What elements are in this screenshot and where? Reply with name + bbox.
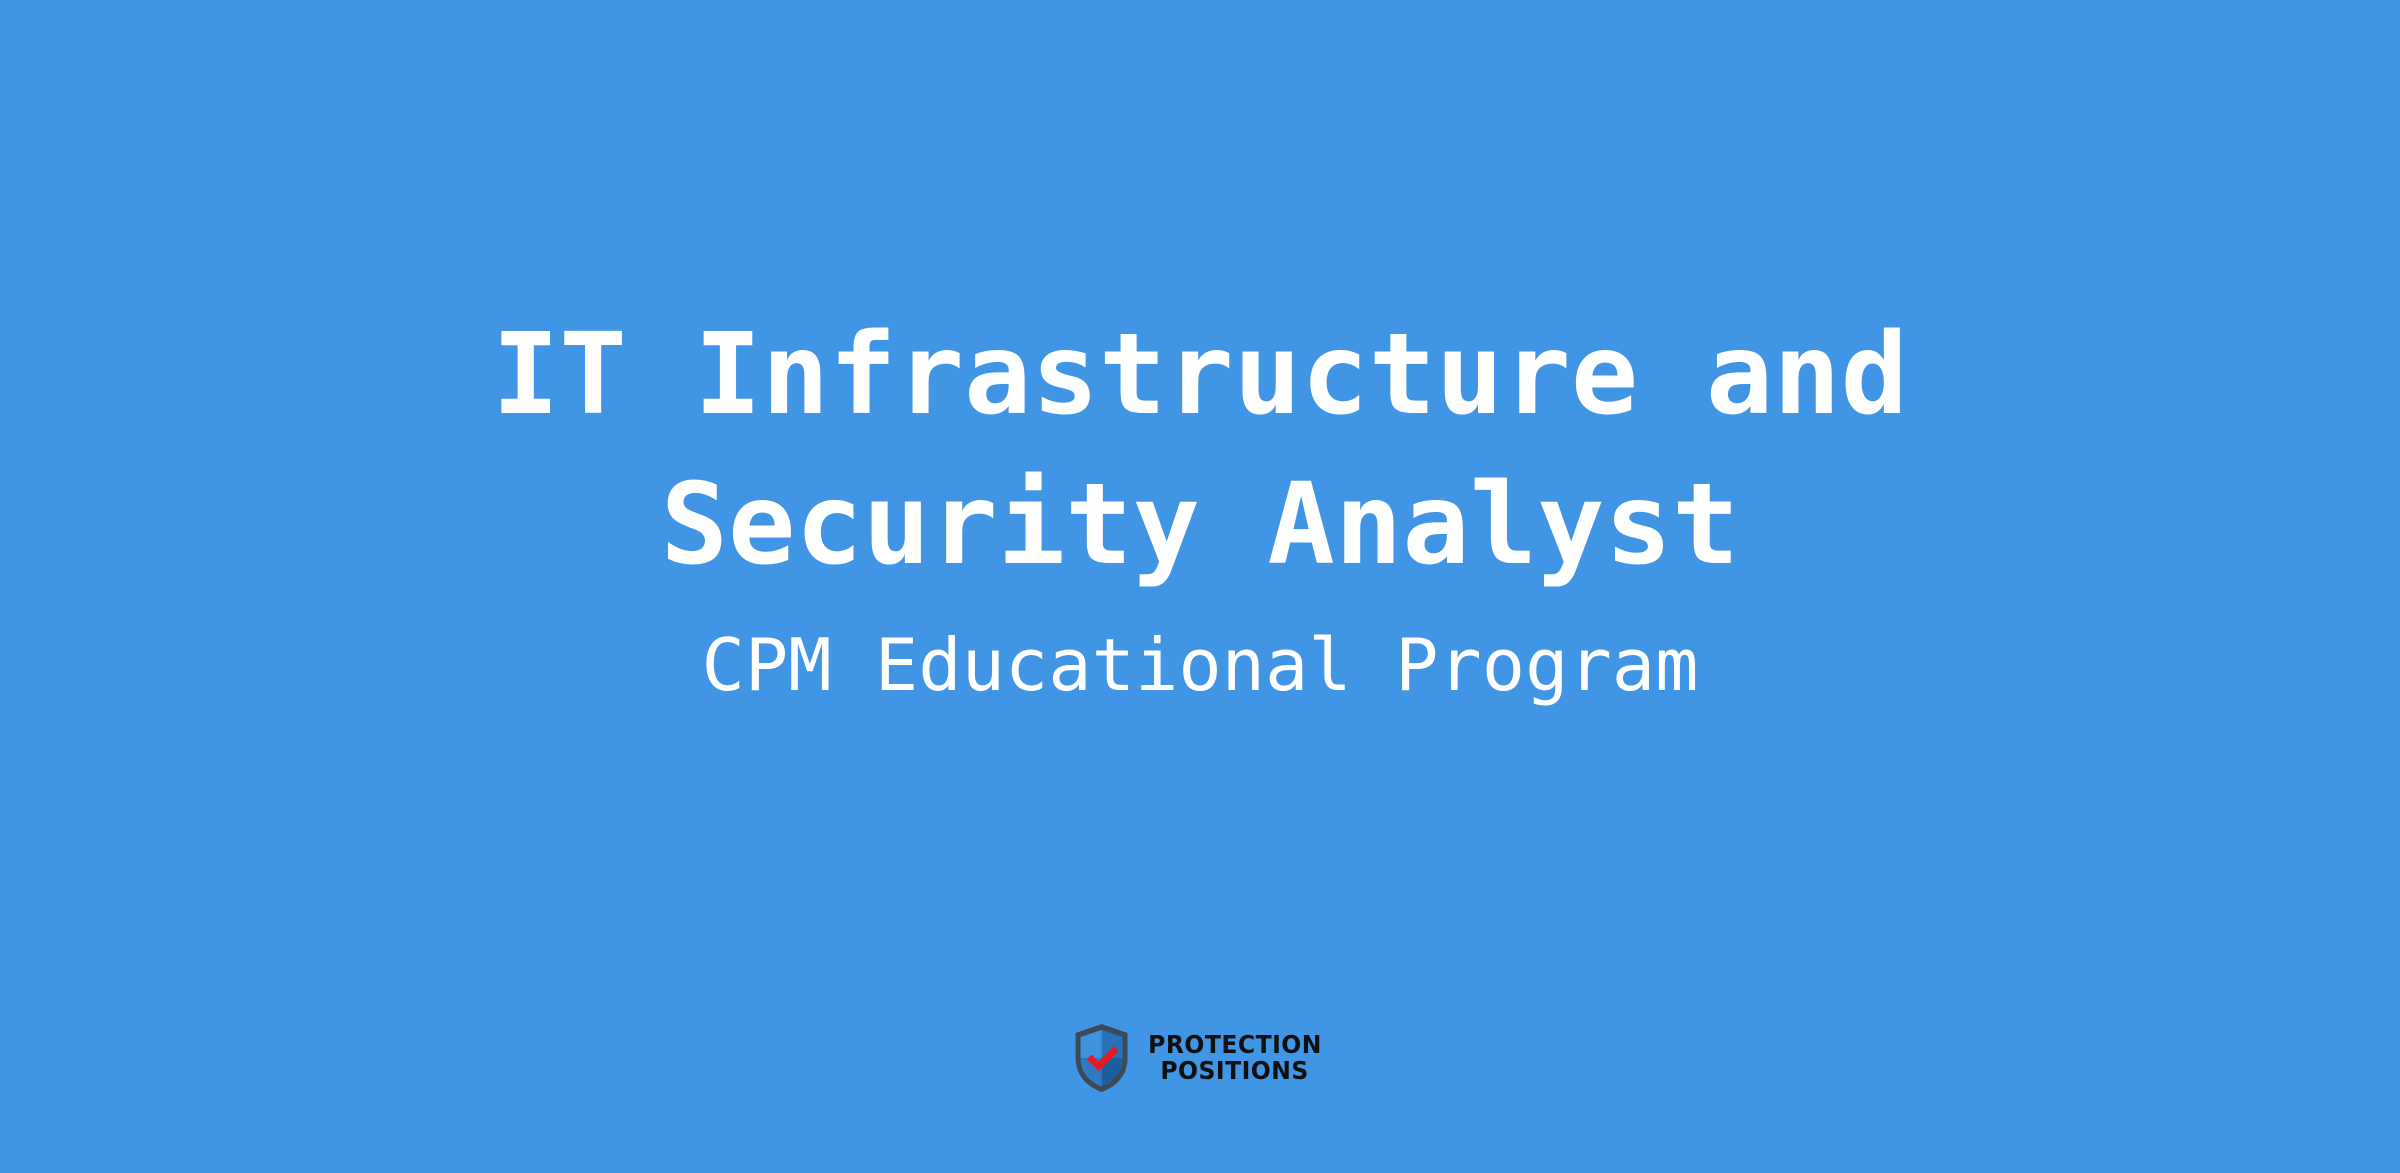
shield-check-icon	[1073, 1022, 1131, 1094]
title-slide: IT Infrastructure and Security Analyst C…	[0, 0, 2400, 1173]
page-title-line-2: Security Analyst	[661, 450, 1740, 600]
brand-logo: PROTECTION POSITIONS	[1073, 1022, 1328, 1094]
logo-wordmark-line-2: POSITIONS	[1161, 1058, 1309, 1085]
logo-wordmark-line-1: PROTECTION	[1148, 1032, 1322, 1059]
logo-wordmark: PROTECTION POSITIONS	[1143, 1032, 1328, 1085]
title-block: IT Infrastructure and Security Analyst C…	[0, 300, 2400, 720]
page-title-line-1: IT Infrastructure and	[492, 300, 1908, 450]
page-subtitle: CPM Educational Program	[702, 610, 1699, 720]
